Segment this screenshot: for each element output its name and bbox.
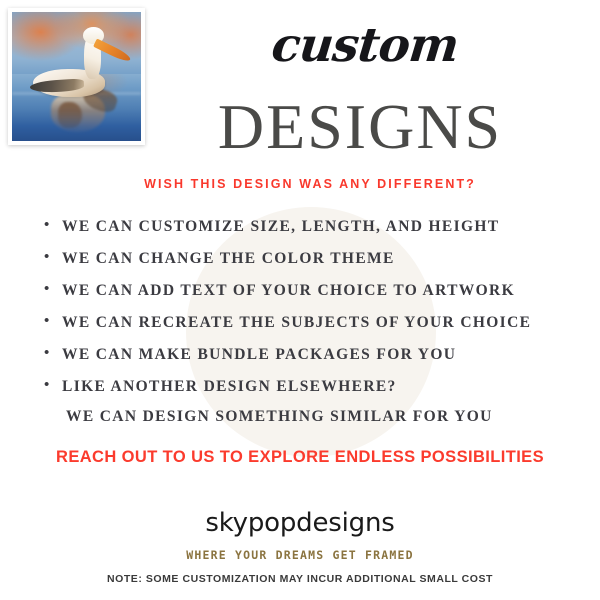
list-item: WE CAN CHANGE THE COLOR THEME [44,250,589,268]
product-thumbnail-frame[interactable] [8,8,145,145]
list-item: WE CAN CUSTOMIZE SIZE, LENGTH, AND HEIGH… [44,218,589,236]
list-item-continuation: WE CAN DESIGN SOMETHING SIMILAR FOR YOU [44,408,589,426]
list-item: WE CAN RECREATE THE SUBJECTS OF YOUR CHO… [44,314,589,332]
call-to-action-text: REACH OUT TO US TO EXPLORE ENDLESS POSSI… [0,448,600,467]
headline-subtitle: WISH THIS DESIGN WAS ANY DIFFERENT? [100,177,520,191]
painting-dark-reflection [58,102,81,128]
list-item: WE CAN MAKE BUNDLE PACKAGES FOR YOU [44,346,589,364]
pelican-painting-image [12,12,141,141]
brand-tagline: WHERE YOUR DREAMS GET FRAMED [0,548,600,562]
list-item: LIKE ANOTHER DESIGN ELSEWHERE? [44,378,589,396]
list-item: WE CAN ADD TEXT OF YOUR CHOICE TO ARTWOR… [44,282,589,300]
main-headline: DESIGNS [150,95,570,159]
feature-list: WE CAN CUSTOMIZE SIZE, LENGTH, AND HEIGH… [44,218,589,440]
footer-note: NOTE: SOME CUSTOMIZATION MAY INCUR ADDIT… [0,573,600,585]
brand-name: skypopdesigns [0,508,600,538]
promo-graphic-canvas: custom DESIGNS WISH THIS DESIGN WAS ANY … [0,0,600,600]
script-headline: custom [198,22,533,69]
